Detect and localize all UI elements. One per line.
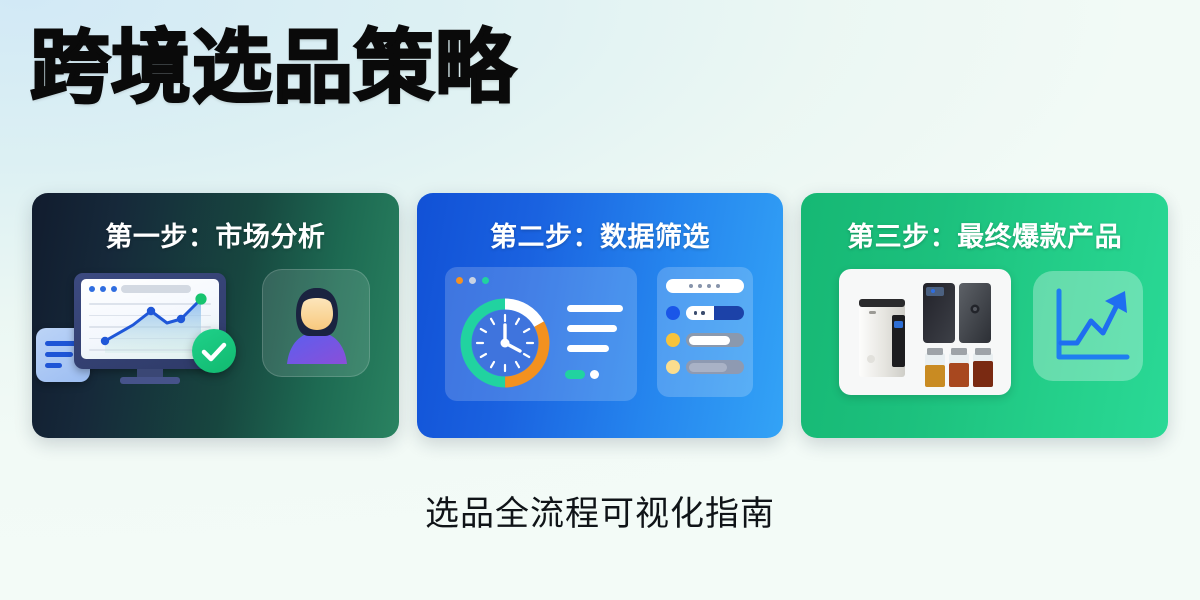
slide-canvas: 跨境选品策略 第一步：市场分析 xyxy=(0,0,1200,600)
filter-row xyxy=(666,305,744,321)
steps-card-row: 第一步：市场分析 xyxy=(32,193,1168,438)
step-card-1-title: 第一步：市场分析 xyxy=(32,215,399,254)
growth-chart-icon xyxy=(1033,271,1143,381)
filter-row xyxy=(666,332,744,348)
product-photo xyxy=(839,269,1011,395)
person-avatar xyxy=(262,269,370,377)
data-window-panel xyxy=(445,267,637,401)
clock-donut-chart xyxy=(455,293,555,393)
step-card-1-illustration xyxy=(32,265,399,424)
step-card-3-illustration xyxy=(801,265,1168,424)
page-caption: 选品全流程可视化指南 xyxy=(0,486,1200,535)
list-lines xyxy=(567,305,623,365)
page-title: 跨境选品策略 xyxy=(30,26,516,110)
window-traffic-dots xyxy=(456,277,489,284)
filter-row xyxy=(666,278,744,294)
success-check-badge xyxy=(192,329,236,373)
step-card-3-title: 第三步：最终爆款产品 xyxy=(801,215,1168,254)
filter-panel xyxy=(657,267,753,397)
step-card-1[interactable]: 第一步：市场分析 xyxy=(32,193,399,438)
step-card-3[interactable]: 第三步：最终爆款产品 xyxy=(801,193,1168,438)
step-card-2-title: 第二步：数据筛选 xyxy=(417,215,784,254)
status-pill xyxy=(565,370,585,379)
step-card-2[interactable]: 第二步：数据筛选 xyxy=(417,193,784,438)
filter-row xyxy=(666,359,744,375)
status-dot xyxy=(590,370,599,379)
step-card-2-illustration xyxy=(417,265,784,424)
